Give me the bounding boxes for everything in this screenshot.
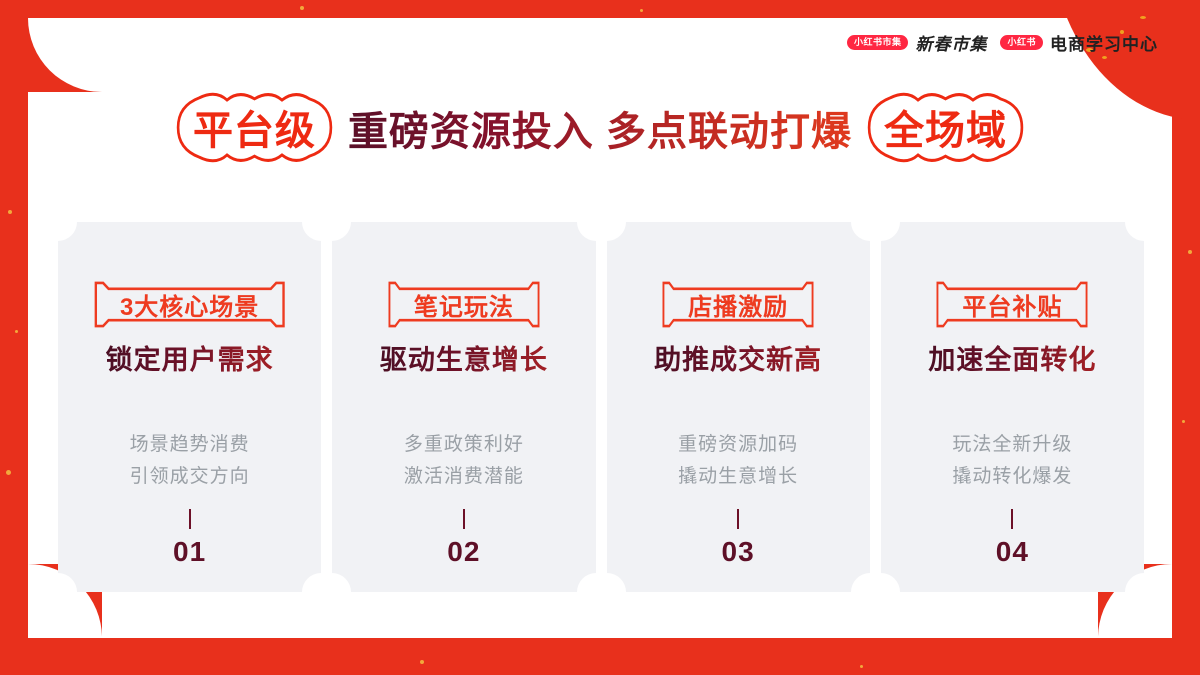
decorative-speck [8,210,12,214]
card-subtext-line: 引领成交方向 [130,461,250,493]
card-notch-bottom-left [332,573,351,592]
title-segment-2: 全场域 [884,109,1007,153]
card-subtext-line: 重磅资源加码 [678,429,798,461]
decorative-speck [860,665,863,668]
decorative-speck [6,470,11,475]
card-divider [463,509,465,529]
card-heading: 助推成交新高 [654,338,822,377]
title-highlight-platform-level: 平台级 [173,92,336,163]
card-notch-bottom-left [607,573,626,592]
decorative-speck [1182,420,1185,423]
card-heading: 锁定用户需求 [106,338,274,377]
xiaohongshu-pill: 小红书 [1000,35,1043,50]
card-number: 01 [173,536,206,568]
card-number: 04 [996,536,1029,568]
card-notch-top-left [58,222,77,241]
card-notch-top-right [851,222,870,241]
new-spring-market-label: 新春市集 [915,30,987,55]
page-title: 平台级 重磅资源投入 多点联动打爆 全场域 [0,92,1200,163]
feature-card-04[interactable]: 平台补贴 加速全面转化 玩法全新升级 撬动转化爆发 04 [881,222,1144,592]
card-divider [737,509,739,529]
card-badge-label: 平台补贴 [962,287,1062,322]
decorative-speck [640,9,643,12]
card-divider [189,509,191,529]
card-notch-bottom-left [881,573,900,592]
card-notch-top-left [881,222,900,241]
card-badge-label: 3大核心场景 [120,287,259,322]
feature-card-row: 3大核心场景 锁定用户需求 场景趋势消费 引领成交方向 01 笔记玩法 驱动生意… [58,222,1144,592]
decorative-speck [300,6,304,10]
card-badge: 平台补贴 [936,281,1088,328]
feature-card-03[interactable]: 店播激励 助推成交新高 重磅资源加码 撬动生意增长 03 [607,222,870,592]
card-subtext: 重磅资源加码 撬动生意增长 [678,429,798,493]
card-notch-bottom-right [851,573,870,592]
decorative-speck [420,660,424,664]
card-badge-label: 店播激励 [688,287,788,322]
card-heading: 加速全面转化 [928,338,1096,377]
card-subtext-line: 场景趋势消费 [130,429,250,461]
card-badge-label: 笔记玩法 [414,287,514,322]
logo-xiaohongshu-market: 小红书市集 新春市集 [847,30,988,55]
card-subtext-line: 激活消费潜能 [404,461,524,493]
feature-card-01[interactable]: 3大核心场景 锁定用户需求 场景趋势消费 引领成交方向 01 [58,222,321,592]
header-logo-row: 小红书市集 新春市集 小红书 电商学习中心 [847,30,1158,55]
card-notch-top-right [577,222,596,241]
feature-card-02[interactable]: 笔记玩法 驱动生意增长 多重政策利好 激活消费潜能 02 [332,222,595,592]
title-segment-0: 平台级 [193,109,316,153]
card-notch-top-left [332,222,351,241]
card-notch-bottom-left [58,573,77,592]
slide-canvas: 小红书市集 新春市集 小红书 电商学习中心 平台级 重磅资源投入 多点联动打爆 … [0,0,1200,675]
card-subtext: 多重政策利好 激活消费潜能 [404,429,524,493]
card-subtext-line: 玩法全新升级 [952,429,1072,461]
card-divider [1011,509,1013,529]
card-badge: 3大核心场景 [94,281,285,328]
decorative-speck [15,330,18,333]
decorative-speck [1188,250,1192,254]
title-highlight-full-domain: 全场域 [864,92,1027,163]
card-notch-bottom-right [1125,573,1144,592]
card-subtext: 场景趋势消费 引领成交方向 [130,429,250,493]
card-notch-top-left [607,222,626,241]
card-notch-bottom-right [577,573,596,592]
card-badge: 笔记玩法 [388,281,540,328]
panel-corner-top-left [28,18,102,92]
card-number: 02 [447,536,480,568]
xiaohongshu-market-pill: 小红书市集 [847,35,909,50]
card-heading: 驱动生意增长 [380,338,548,377]
card-subtext-line: 多重政策利好 [404,429,524,461]
card-subtext-line: 撬动生意增长 [678,461,798,493]
card-notch-bottom-right [302,573,321,592]
ecom-learning-center-label: 电商学习中心 [1050,30,1158,55]
card-notch-top-right [302,222,321,241]
card-subtext-line: 撬动转化爆发 [952,461,1072,493]
title-segment-1: 重磅资源投入 多点联动打爆 [348,99,852,157]
card-number: 03 [722,536,755,568]
card-badge: 店播激励 [662,281,814,328]
card-notch-top-right [1125,222,1144,241]
card-subtext: 玩法全新升级 撬动转化爆发 [952,429,1072,493]
logo-xiaohongshu-ecom: 小红书 电商学习中心 [1000,30,1158,55]
